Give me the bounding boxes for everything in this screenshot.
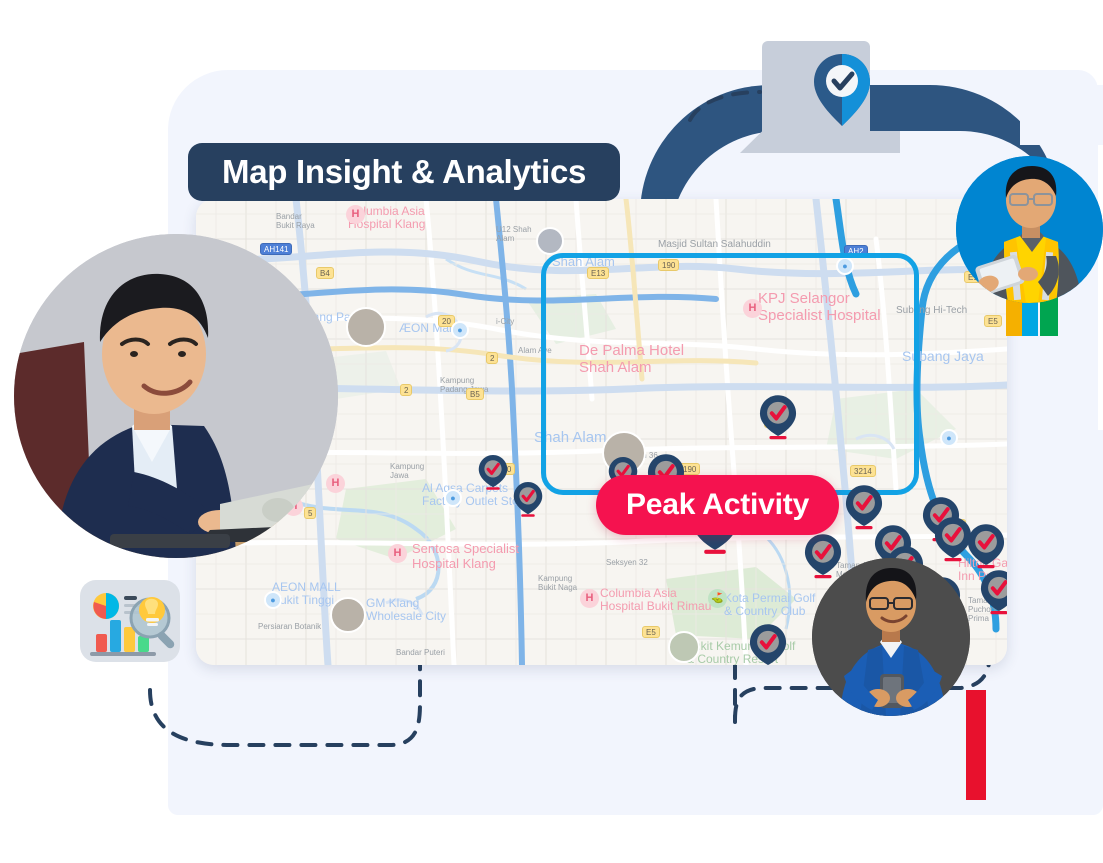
road-shield: B4 (316, 267, 334, 279)
transit-poi-icon[interactable]: ● (940, 429, 958, 447)
map-pin-check[interactable] (980, 569, 1007, 617)
road-shield: 2 (400, 384, 412, 396)
field-worker-tablet-photo (956, 156, 1103, 303)
place-photo-thumb[interactable] (668, 631, 700, 663)
road-shield: E5 (642, 626, 660, 638)
peak-activity-label: Peak Activity (626, 488, 809, 522)
hospital-poi-icon[interactable]: H (346, 205, 365, 224)
hospital-poi-icon[interactable]: H (580, 589, 599, 608)
ribbon-mask (1020, 85, 1103, 145)
peak-activity-highlight-box[interactable] (541, 253, 919, 495)
red-stripe-decoration (966, 690, 986, 800)
promo-graphic-root: Columbia Asia Hospital KlangBandar Bukit… (0, 0, 1103, 863)
road-shield: B5 (466, 388, 484, 400)
map-pin-check[interactable] (967, 523, 1005, 571)
road-shield: 2 (486, 352, 498, 364)
transit-poi-icon[interactable]: ● (264, 591, 282, 609)
transit-poi-icon[interactable]: ● (444, 489, 462, 507)
map-pin-check[interactable] (513, 481, 543, 519)
page-title-label: Map Insight & Analytics (222, 153, 586, 191)
map-pin-check[interactable] (749, 623, 787, 665)
place-photo-thumb[interactable] (346, 307, 386, 347)
road-shield: AH141 (260, 243, 292, 255)
place-photo-thumb[interactable] (330, 597, 366, 633)
location-pin-check-icon (811, 52, 873, 128)
place-photo-thumb[interactable] (536, 227, 564, 255)
analytics-insight-icon (80, 580, 180, 662)
page-title: Map Insight & Analytics (188, 143, 620, 201)
hospital-poi-icon[interactable]: H (388, 544, 407, 563)
map-pin-check[interactable] (759, 394, 797, 442)
executive-laptop-photo (14, 234, 338, 558)
map-pin-check[interactable] (804, 533, 842, 581)
technician-phone-photo (812, 558, 970, 716)
road-shield: 5 (304, 507, 316, 519)
road-shield: E5 (984, 315, 1002, 327)
transit-poi-icon[interactable]: ● (451, 321, 469, 339)
hospital-poi-icon[interactable]: H (326, 474, 345, 493)
peak-activity-badge[interactable]: Peak Activity (596, 475, 839, 535)
golf-poi-icon[interactable]: ⛳ (708, 589, 727, 608)
map-pin-check[interactable] (478, 454, 508, 492)
